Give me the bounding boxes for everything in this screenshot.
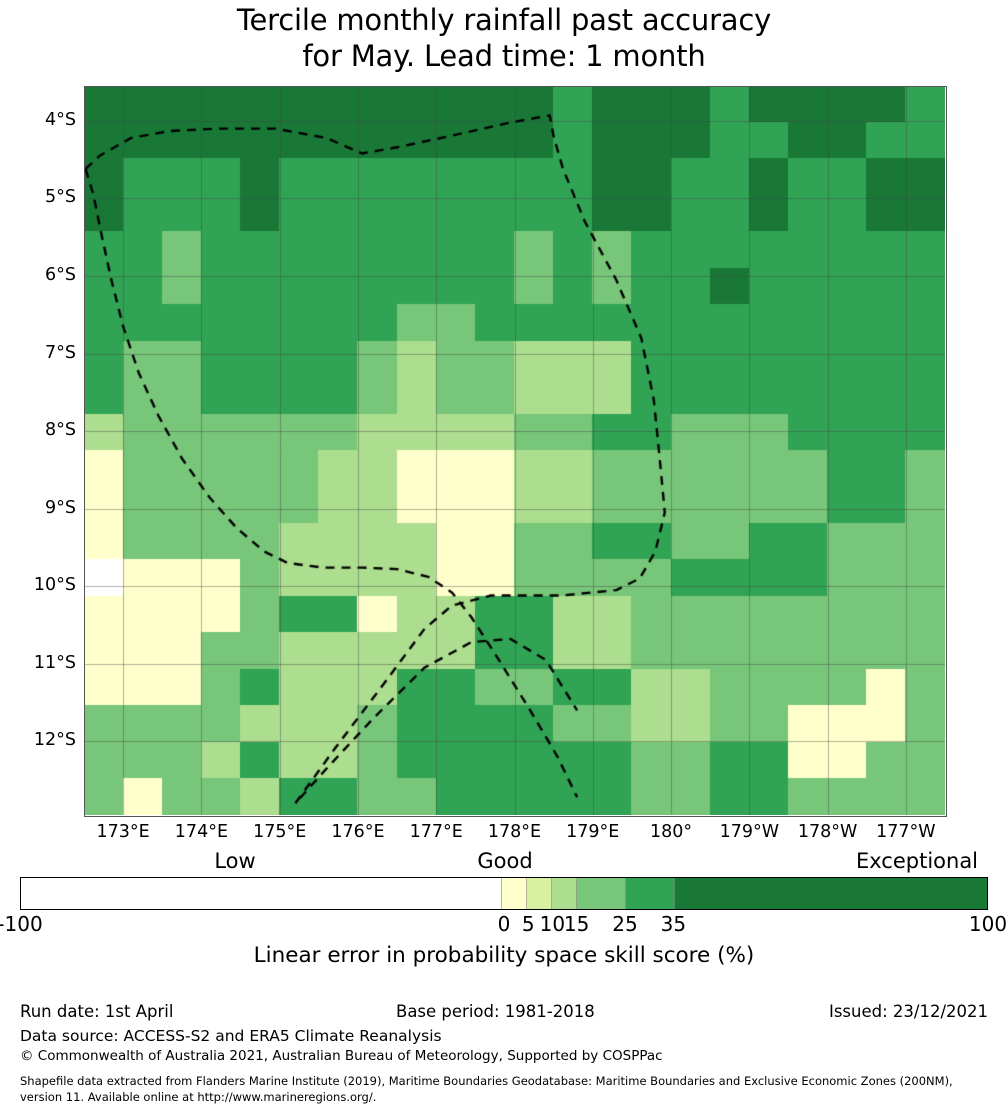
colorbar-band-1 xyxy=(502,878,527,909)
y-axis-tick-3: 7°S xyxy=(2,345,76,363)
colorbar-band-0 xyxy=(21,878,502,909)
footer-metadata-row: Run date: 1st April Base period: 1981-20… xyxy=(0,1001,1008,1023)
colorbar-caption-exceptional: Exceptional xyxy=(856,849,978,873)
x-axis-tick-1: 174°E xyxy=(175,822,228,842)
y-axis-tick-labels: 4°S5°S6°S7°S8°S9°S10°S11°S12°S xyxy=(0,86,76,815)
y-axis-tick-2: 6°S xyxy=(2,267,76,285)
colorbar-tick-3: 10 xyxy=(540,912,565,936)
y-axis-tick-0: 4°S xyxy=(2,112,76,130)
x-axis-tick-2: 175°E xyxy=(253,822,306,842)
chart-title-line-1: Tercile monthly rainfall past accuracy xyxy=(0,0,1008,38)
footer-shapefile-line-1: Shapefile data extracted from Flanders M… xyxy=(20,1073,995,1089)
x-axis-tick-10: 177°W xyxy=(876,822,935,842)
y-axis-tick-8: 12°S xyxy=(2,732,76,750)
x-axis-tick-3: 176°E xyxy=(331,822,384,842)
colorbar-tick-labels: -1000510152535100 xyxy=(0,912,1008,938)
colorbar-axis-title: Linear error in probability space skill … xyxy=(0,943,1008,969)
x-axis-tick-8: 179°W xyxy=(720,822,779,842)
chart-title: Tercile monthly rainfall past accuracy f… xyxy=(0,0,1008,74)
colorbar-tick-5: 25 xyxy=(612,912,637,936)
colorbar-tick-2: 5 xyxy=(522,912,535,936)
y-axis-tick-6: 10°S xyxy=(2,577,76,595)
colorbar-tick-7: 100 xyxy=(969,912,1007,936)
heatmap-plot-area xyxy=(84,86,945,815)
footer-copyright: © Commonwealth of Australia 2021, Austra… xyxy=(20,1047,663,1065)
colorbar-tick-4: 15 xyxy=(564,912,589,936)
colorbar-tick-1: 0 xyxy=(498,912,511,936)
x-axis-tick-6: 179°E xyxy=(566,822,619,842)
footer-run-date: Run date: 1st April xyxy=(20,1001,173,1023)
y-axis-tick-4: 8°S xyxy=(2,422,76,440)
colorbar-band-2 xyxy=(527,878,552,909)
x-axis-tick-7: 180° xyxy=(650,822,692,842)
colorbar-band-4 xyxy=(577,878,626,909)
y-axis-tick-1: 5°S xyxy=(2,189,76,207)
colorbar-category-captions: LowGoodExceptional xyxy=(0,849,1008,875)
x-axis-tick-5: 178°E xyxy=(488,822,541,842)
footer-data-source: Data source: ACCESS-S2 and ERA5 Climate … xyxy=(20,1026,442,1046)
colorbar-band-5 xyxy=(626,878,675,909)
colorbar xyxy=(20,877,988,910)
colorbar-band-3 xyxy=(552,878,577,909)
footer-shapefile-attribution: Shapefile data extracted from Flanders M… xyxy=(20,1073,995,1105)
colorbar-caption-good: Good xyxy=(477,849,532,873)
eez-boundary-line xyxy=(84,86,945,815)
colorbar-caption-low: Low xyxy=(214,849,255,873)
colorbar-band-6 xyxy=(675,878,987,909)
footer-base-period: Base period: 1981-2018 xyxy=(396,1001,595,1023)
footer-issued-date: Issued: 23/12/2021 xyxy=(829,1001,988,1023)
colorbar-tick-6: 35 xyxy=(661,912,686,936)
footer-shapefile-line-2: version 11. Available online at http://w… xyxy=(20,1089,995,1105)
y-axis-tick-5: 9°S xyxy=(2,500,76,518)
x-axis-tick-labels: 173°E174°E175°E176°E177°E178°E179°E180°1… xyxy=(84,822,945,846)
x-axis-tick-4: 177°E xyxy=(410,822,463,842)
y-axis-tick-7: 11°S xyxy=(2,655,76,673)
x-axis-tick-9: 178°W xyxy=(798,822,857,842)
colorbar-tick-0: -100 xyxy=(0,912,43,936)
chart-title-line-2: for May. Lead time: 1 month xyxy=(0,38,1008,74)
x-axis-tick-0: 173°E xyxy=(97,822,150,842)
